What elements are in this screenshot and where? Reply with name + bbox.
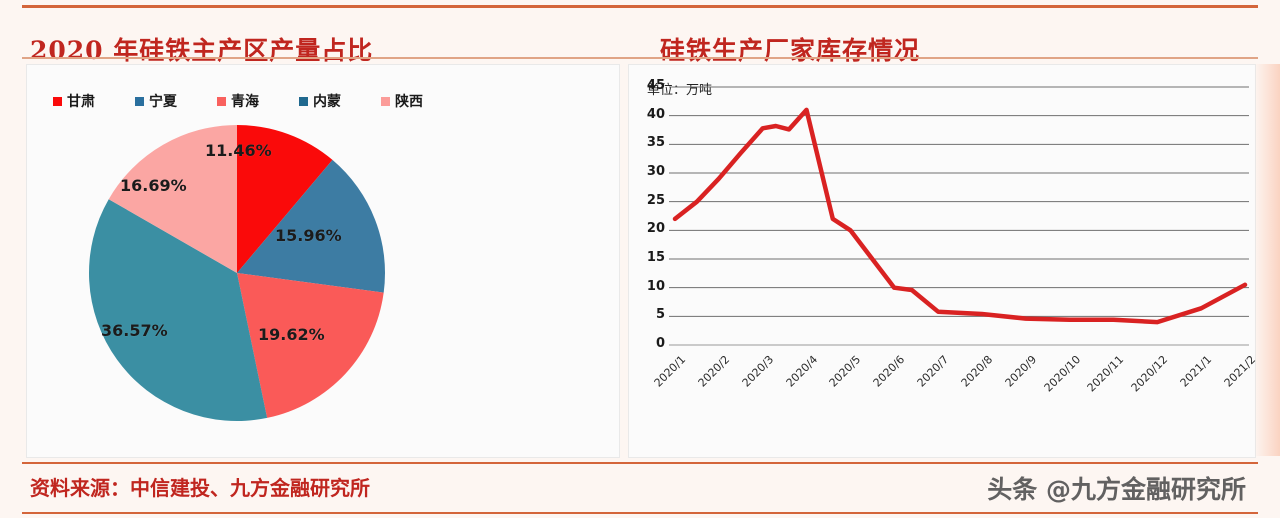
legend-label: 甘肃 (67, 91, 95, 111)
legend-item-qinghai[interactable]: 青海 (217, 91, 259, 111)
divider-top (22, 5, 1258, 8)
line-chart[interactable]: 454035302520151050 2020/12020/22020/3202… (629, 65, 1255, 457)
legend-label: 青海 (231, 91, 259, 111)
legend-item-shaanxi[interactable]: 陕西 (381, 91, 423, 111)
pie-slice-label-neimeng: 36.57% (101, 321, 168, 340)
divider-footer-top (22, 462, 1258, 464)
pie-slice-label-shaanxi: 16.69% (120, 176, 187, 195)
watermark: 头条 @九方金融研究所 (987, 470, 1246, 506)
pie-chart[interactable]: 11.46% 15.96% 19.62% 36.57% 16.69% (87, 123, 387, 423)
y-axis-tick-label: 0 (637, 336, 665, 351)
right-chart-title: 硅铁生产厂家库存情况 (660, 31, 920, 67)
legend-swatch-icon (381, 97, 390, 106)
legend-swatch-icon (53, 97, 62, 106)
legend-item-neimeng[interactable]: 内蒙 (299, 91, 341, 111)
line-chart-panel: 单位：万吨 454035302520151050 2020/12020/2202… (628, 64, 1256, 458)
y-axis-tick-label: 20 (637, 221, 665, 236)
legend-label: 内蒙 (313, 91, 341, 111)
page-edge-gradient (1254, 64, 1280, 456)
pie-slice-label-ningxia: 15.96% (275, 226, 342, 245)
divider-under-titles (22, 57, 1258, 59)
y-axis-tick-label: 40 (637, 107, 665, 122)
pie-chart-panel: 甘肃 宁夏 青海 内蒙 陕西 11.46% 1 (26, 64, 620, 458)
legend-label: 陕西 (395, 91, 423, 111)
left-chart-title: 2020 年硅铁主产区产量占比 (30, 31, 373, 67)
page-background: 2020 年硅铁主产区产量占比 硅铁生产厂家库存情况 甘肃 宁夏 青海 内蒙 (0, 0, 1280, 518)
y-axis-tick-label: 35 (637, 135, 665, 150)
pie-slice-label-qinghai: 19.62% (258, 325, 325, 344)
legend-swatch-icon (217, 97, 226, 106)
series-line (675, 110, 1245, 322)
divider-footer-bottom (22, 512, 1258, 514)
line-svg (629, 65, 1255, 457)
y-axis-tick-label: 45 (637, 78, 665, 93)
y-axis-tick-label: 30 (637, 164, 665, 179)
legend-swatch-icon (299, 97, 308, 106)
legend-item-ningxia[interactable]: 宁夏 (135, 91, 177, 111)
pie-legend: 甘肃 宁夏 青海 内蒙 陕西 (53, 91, 423, 111)
pie-svg (87, 123, 387, 423)
legend-swatch-icon (135, 97, 144, 106)
pie-slice-label-gansu: 11.46% (205, 141, 272, 160)
y-axis-tick-label: 5 (637, 307, 665, 322)
y-axis-tick-label: 10 (637, 279, 665, 294)
y-axis-tick-label: 25 (637, 193, 665, 208)
y-axis-tick-label: 15 (637, 250, 665, 265)
legend-item-gansu[interactable]: 甘肃 (53, 91, 95, 111)
legend-label: 宁夏 (149, 91, 177, 111)
source-note: 资料来源：中信建投、九方金融研究所 (30, 472, 370, 501)
